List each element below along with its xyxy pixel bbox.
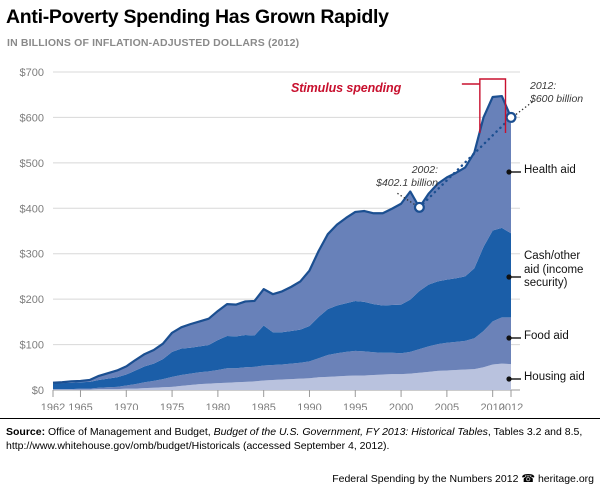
svg-text:1965: 1965	[68, 402, 92, 410]
series-label-food: Food aid	[524, 330, 569, 344]
svg-text:2005: 2005	[435, 402, 459, 410]
svg-text:1962: 1962	[41, 402, 65, 410]
x-axis-labels: 1962196519701975198019851990199520002005…	[41, 402, 523, 410]
phone-icon: ☎	[521, 473, 535, 485]
svg-text:$200: $200	[20, 294, 44, 306]
annotation-stimulus: Stimulus spending	[291, 81, 401, 95]
svg-text:2000: 2000	[389, 402, 413, 410]
source-title: Budget of the U.S. Government, FY 2013: …	[214, 426, 488, 438]
svg-text:2012: 2012	[499, 402, 523, 410]
page-title: Anti-Poverty Spending Has Grown Rapidly	[6, 6, 389, 29]
chart-page: Anti-Poverty Spending Has Grown Rapidly …	[0, 0, 600, 496]
series-label-health: Health aid	[524, 164, 576, 178]
svg-text:1980: 1980	[206, 402, 230, 410]
svg-text:$700: $700	[20, 67, 44, 79]
svg-text:1985: 1985	[251, 402, 275, 410]
series-label-cash: Cash/other aid (income security)	[524, 250, 583, 291]
svg-text:$0: $0	[32, 385, 44, 397]
area-series-group	[53, 96, 511, 390]
x-axis-ticks	[53, 390, 511, 397]
svg-text:1995: 1995	[343, 402, 367, 410]
source-text-a: Office of Management and Budget,	[45, 426, 214, 438]
annotation-2002: 2002: $402.1 billion	[318, 164, 438, 189]
attribution-text: Federal Spending by the Numbers 2012	[332, 473, 518, 485]
source-label: Source:	[6, 426, 45, 438]
svg-text:1990: 1990	[297, 402, 321, 410]
footer-divider	[0, 418, 600, 419]
attribution-site: heritage.org	[538, 473, 594, 485]
chart-subtitle: IN BILLIONS OF INFLATION-ADJUSTED DOLLAR…	[7, 37, 299, 49]
svg-text:$600: $600	[20, 112, 44, 124]
series-label-housing: Housing aid	[524, 371, 585, 385]
svg-text:$300: $300	[20, 249, 44, 261]
source-note: Source: Office of Management and Budget,…	[6, 425, 594, 453]
svg-text:$400: $400	[20, 203, 44, 215]
svg-text:1970: 1970	[114, 402, 138, 410]
annotation-2012: 2012: $600 billion	[530, 80, 583, 105]
y-axis-labels: $0$100$200$300$400$500$600$700	[20, 67, 44, 397]
svg-text:$100: $100	[20, 340, 44, 352]
attribution: Federal Spending by the Numbers 2012 ☎ h…	[332, 472, 594, 485]
stacked-area-chart: $0$100$200$300$400$500$600$700 196219651…	[0, 55, 600, 410]
svg-text:1975: 1975	[160, 402, 184, 410]
chart-plot-area: $0$100$200$300$400$500$600$700 196219651…	[0, 55, 600, 410]
svg-text:$500: $500	[20, 158, 44, 170]
